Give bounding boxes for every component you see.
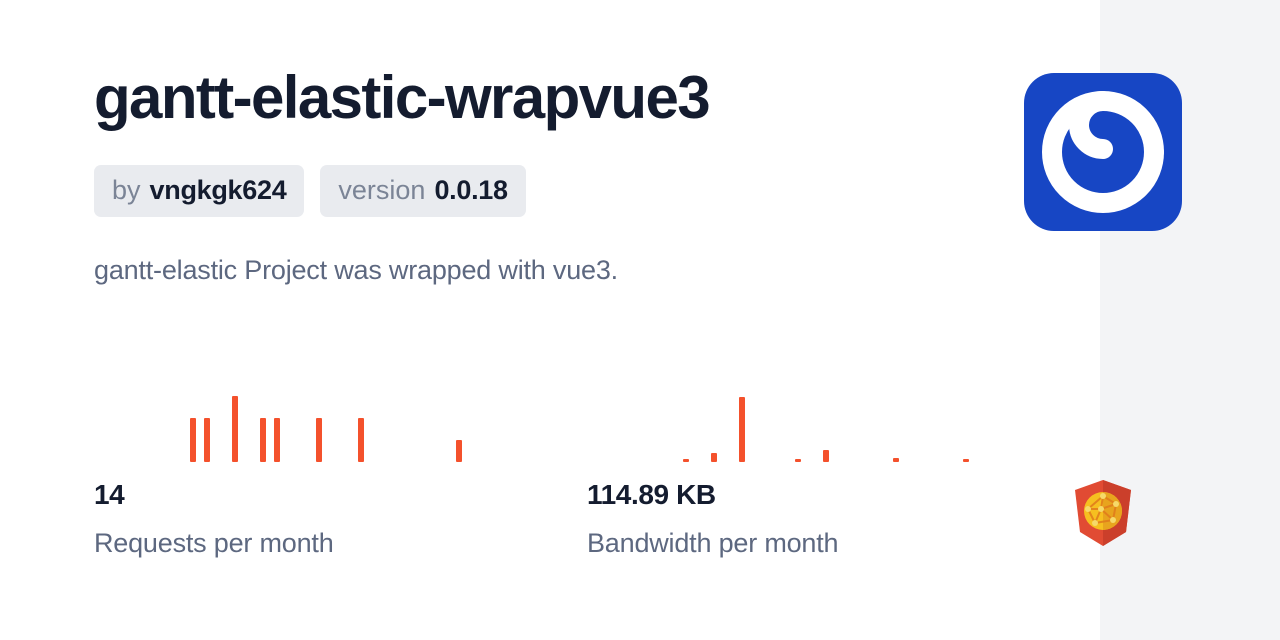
package-stats-card: gantt-elastic-wrapvue3 by vngkgk624 vers… xyxy=(0,0,1280,640)
version-badge: version 0.0.18 xyxy=(320,165,525,217)
sparkline-bar xyxy=(274,418,280,462)
sparkline-bar xyxy=(711,453,717,462)
sparkline-bar xyxy=(456,440,462,462)
sparkline-bar xyxy=(232,396,238,462)
version-badge-value: 0.0.18 xyxy=(434,174,507,206)
sparkline-bar xyxy=(739,397,745,462)
sparkline-bar xyxy=(795,459,801,462)
author-badge-label: by xyxy=(112,174,141,206)
badge-row: by vngkgk624 version 0.0.18 xyxy=(94,165,526,217)
sparkline-bar xyxy=(260,418,266,462)
author-badge: by vngkgk624 xyxy=(94,165,304,217)
version-badge-label: version xyxy=(338,174,425,206)
stat-bandwidth: 114.89 KB Bandwidth per month xyxy=(587,390,1080,560)
stats-row: 14 Requests per month 114.89 KB Bandwidt… xyxy=(94,390,1080,560)
stat-requests: 14 Requests per month xyxy=(94,390,587,560)
package-description: gantt-elastic Project was wrapped with v… xyxy=(94,252,618,288)
sparkline-bar xyxy=(190,418,196,462)
sparkline-bar xyxy=(358,418,364,462)
jsdelivr-logo-icon xyxy=(1024,73,1182,231)
bandwidth-value: 114.89 KB xyxy=(587,462,1080,512)
bandwidth-sparkline-chart xyxy=(627,390,1047,462)
bandwidth-label: Bandwidth per month xyxy=(587,512,1080,560)
sparkline-bar xyxy=(316,418,322,462)
package-shield-icon xyxy=(1071,478,1135,548)
sparkline-bar xyxy=(823,450,829,462)
sparkline-bar xyxy=(683,459,689,462)
author-badge-value: vngkgk624 xyxy=(150,174,287,206)
sparkline-bar xyxy=(204,418,210,462)
requests-label: Requests per month xyxy=(94,512,587,560)
requests-sparkline-chart xyxy=(134,390,554,462)
sparkline-bar xyxy=(893,458,899,462)
package-title: gantt-elastic-wrapvue3 xyxy=(94,62,709,134)
main-content: gantt-elastic-wrapvue3 by vngkgk624 vers… xyxy=(94,0,1054,640)
sparkline-bar xyxy=(963,459,969,462)
requests-value: 14 xyxy=(94,462,587,512)
